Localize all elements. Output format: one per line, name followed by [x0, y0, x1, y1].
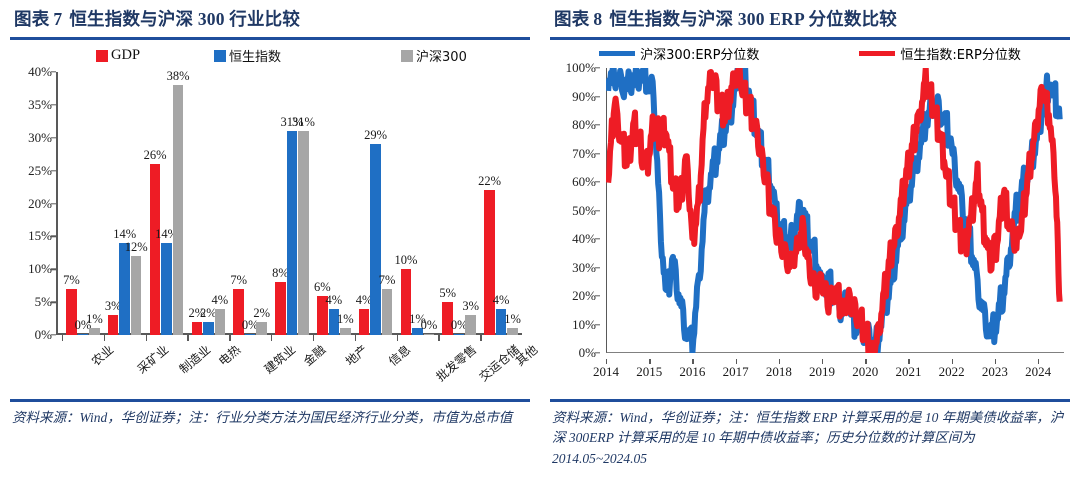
bar-group: 6%4%1% — [313, 72, 355, 335]
figure-8-number: 8 — [589, 9, 609, 29]
line-y-tick: 20% — [572, 288, 596, 304]
line-y-tick: 30% — [572, 260, 596, 276]
figure-7-footnote: 资料来源：Wind，华创证券；注：行业分类方法为国民经济行业分类，市值为总市值 — [10, 408, 530, 429]
bar-group: 8%31%31% — [271, 72, 313, 335]
figure-8-footnote-rule — [550, 399, 1070, 402]
figure-7-title-text: 恒生指数与沪深 300 行业比较 — [69, 9, 300, 29]
bar-y-tick: 30% — [28, 130, 52, 146]
bar-恒生指数: 0% — [454, 334, 465, 335]
bar-GDP: 8% — [275, 282, 286, 335]
figure-7-title: 图表7恒生指数与沪深 300 行业比较 — [10, 0, 530, 36]
bar-group: 2%2%4% — [187, 72, 229, 335]
line-x-label: 2022 — [939, 364, 965, 380]
bar-沪深300: 4% — [215, 309, 226, 335]
bar-value-label: 12% — [125, 240, 148, 255]
line-y-tick: 70% — [572, 146, 596, 162]
legend-item-gdp: GDP — [96, 47, 140, 64]
bar-y-tickmark — [51, 269, 56, 270]
line-x-tickmark — [822, 359, 823, 364]
bar-y-axis — [56, 72, 58, 335]
legend-swatch-gdp — [96, 50, 108, 62]
bar-value-label: 5% — [439, 286, 456, 301]
bar-x-label: 采矿业 — [133, 341, 172, 377]
line-y-tickmark — [595, 96, 600, 97]
bar-GDP: 26% — [150, 164, 161, 335]
line-x-tickmark — [606, 359, 607, 364]
legend-item-csi300-erp: 沪深300:ERP分位数 — [599, 44, 759, 63]
bar-y-tickmark — [51, 203, 56, 204]
line-y-tickmark — [595, 67, 600, 68]
bar-恒生指数: 31% — [287, 131, 298, 335]
figure-8-title-text: 恒生指数与沪深 300 ERP 分位数比较 — [609, 9, 897, 29]
bar-沪深300: 1% — [340, 328, 351, 335]
bar-y-tick: 20% — [28, 196, 52, 212]
legend-item-hsi-erp: 恒生指数:ERP分位数 — [859, 44, 1020, 63]
line-y-tickmark — [595, 238, 600, 239]
bar-value-label: 7% — [379, 273, 396, 288]
bar-chart-legend: GDP 恒生指数 沪深300 — [10, 46, 530, 65]
bar-y-tick: 5% — [35, 294, 52, 310]
line-x-label: 2016 — [679, 364, 705, 380]
bar-y-tickmark — [51, 137, 56, 138]
figure-8-footnote: 资料来源：Wind，华创证券；注：恒生指数 ERP 计算采用的是 10 年期美债… — [550, 408, 1070, 471]
line-x-label: 2017 — [723, 364, 749, 380]
line-y-tick: 100% — [566, 60, 596, 76]
line-x-label: 2018 — [766, 364, 792, 380]
bar-value-label: 1% — [86, 312, 103, 327]
bar-沪深300: 3% — [465, 315, 476, 335]
legend-item-hsi: 恒生指数 — [214, 46, 281, 65]
line-plot-area: 0%10%20%30%40%50%60%70%80%90%100% — [606, 68, 1064, 353]
legend-swatch-csi300 — [401, 50, 413, 62]
line-x-year-labels: 2014201520162017201820192020202120222023… — [606, 359, 1064, 381]
line-y-tick: 90% — [572, 89, 596, 105]
bar-沪深300: 0% — [424, 334, 435, 335]
line-x-label: 2023 — [982, 364, 1008, 380]
bar-value-label: 3% — [462, 299, 479, 314]
bar-GDP: 4% — [359, 309, 370, 335]
bar-沪深300: 31% — [298, 131, 309, 335]
figure-8-panel: 图表8恒生指数与沪深 300 ERP 分位数比较 沪深300:ERP分位数 恒生… — [540, 0, 1080, 488]
bar-y-tick: 40% — [28, 64, 52, 80]
line-y-tick: 40% — [572, 231, 596, 247]
line-x-tickmark — [692, 359, 693, 364]
line-x-tickmark — [995, 359, 996, 364]
bar-沪深300: 1% — [507, 328, 518, 335]
bar-沪深300: 12% — [131, 256, 142, 335]
bar-value-label: 7% — [230, 273, 247, 288]
line-y-tick: 60% — [572, 174, 596, 190]
bar-value-label: 7% — [63, 273, 80, 288]
bar-value-label: 2% — [253, 306, 270, 321]
bar-x-label: 建筑业 — [260, 341, 299, 377]
bar-y-tickmark — [51, 170, 56, 171]
bar-value-label: 29% — [364, 128, 387, 143]
line-series-svg — [606, 68, 1064, 353]
line-y-tickmark — [595, 352, 600, 353]
bar-y-tick: 35% — [28, 97, 52, 113]
line-x-label: 2015 — [636, 364, 662, 380]
line-y-tickmark — [595, 124, 600, 125]
bar-value-label: 31% — [292, 115, 315, 130]
bar-y-tickmark — [51, 104, 56, 105]
bar-y-tickmark — [51, 301, 56, 302]
line-x-tickmark — [908, 359, 909, 364]
line-x-tickmark — [736, 359, 737, 364]
legend-label-gdp: GDP — [111, 47, 140, 64]
line-x-label: 2024 — [1025, 364, 1051, 380]
bar-恒生指数: 14% — [119, 243, 130, 335]
bar-group: 5%0%3% — [438, 72, 480, 335]
bar-x-label: 交运仓储 — [475, 341, 523, 385]
line-y-tickmark — [595, 324, 600, 325]
figure-7-number: 7 — [49, 9, 69, 29]
bar-沪深300: 7% — [382, 289, 393, 335]
bar-group: 7%0%2% — [229, 72, 271, 335]
legend-label-hsi: 恒生指数 — [229, 46, 281, 65]
bar-value-label: 4% — [493, 293, 510, 308]
bar-x-label: 地产 — [342, 341, 371, 369]
bar-value-label: 4% — [325, 293, 342, 308]
bar-GDP: 22% — [484, 190, 495, 335]
legend-label-csi300: 沪深300 — [416, 46, 467, 65]
legend-label-hsi-erp: 恒生指数:ERP分位数 — [900, 44, 1020, 63]
legend-label-csi300-erp: 沪深300:ERP分位数 — [640, 44, 759, 63]
bar-GDP: 3% — [108, 315, 119, 335]
bar-恒生指数: 29% — [370, 144, 381, 335]
bar-value-label: 1% — [337, 312, 354, 327]
line-x-tickmark — [865, 359, 866, 364]
bar-沪深300: 2% — [256, 322, 267, 335]
line-y-tickmark — [595, 153, 600, 154]
bar-GDP: 2% — [192, 322, 203, 335]
figure-page: 图表7恒生指数与沪深 300 行业比较 GDP 恒生指数 沪深300 — [0, 0, 1080, 488]
line-x-label: 2020 — [852, 364, 878, 380]
legend-item-csi300: 沪深300 — [401, 46, 467, 65]
line-x-tickmark — [952, 359, 953, 364]
bar-沪深300: 38% — [173, 85, 184, 335]
figure-7-panel: 图表7恒生指数与沪深 300 行业比较 GDP 恒生指数 沪深300 — [0, 0, 540, 488]
line-y-tick: 0% — [579, 345, 596, 361]
line-x-label: 2021 — [895, 364, 921, 380]
bar-y-tickmark — [51, 71, 56, 72]
line-x-tickmark — [649, 359, 650, 364]
bar-value-label: 10% — [394, 253, 417, 268]
line-chart-legend: 沪深300:ERP分位数 恒生指数:ERP分位数 — [550, 44, 1070, 63]
bar-恒生指数: 2% — [203, 322, 214, 335]
bar-groups: 7%0%1%3%14%12%26%14%38%2%2%4%7%0%2%8%31%… — [62, 72, 522, 335]
bar-y-tick: 0% — [35, 327, 52, 343]
line-x-tickmark — [779, 359, 780, 364]
bar-plot-area: 0%5%10%15%20%25%30%35%40% 7%0%1%3%14%12%… — [62, 72, 522, 335]
line-y-tick: 10% — [572, 317, 596, 333]
bar-group: 26%14%38% — [146, 72, 188, 335]
bar-group: 22%4%1% — [480, 72, 522, 335]
bar-y-tick: 15% — [28, 228, 52, 244]
bar-group: 7%0%1% — [62, 72, 104, 335]
figure-8-title-prefix: 图表 — [554, 9, 589, 29]
bar-x-label: 信息 — [384, 341, 413, 369]
bar-group: 4%29%7% — [355, 72, 397, 335]
line-x-label: 2019 — [809, 364, 835, 380]
line-y-tickmark — [595, 295, 600, 296]
bar-恒生指数: 14% — [161, 243, 172, 335]
bar-value-label: 1% — [504, 312, 521, 327]
bar-value-label: 26% — [144, 148, 167, 163]
bar-y-tick: 25% — [28, 163, 52, 179]
bar-恒生指数: 0% — [245, 334, 256, 335]
figure-7-chart: GDP 恒生指数 沪深300 0%5%10%15%20%25%30%35%40%… — [10, 40, 530, 395]
line-x-tickmark — [1038, 359, 1039, 364]
bar-y-tickmark — [51, 334, 56, 335]
line-y-tick: 50% — [572, 203, 596, 219]
bar-value-label: 38% — [167, 69, 190, 84]
bar-x-label: 电热 — [215, 341, 244, 369]
line-y-tickmark — [595, 181, 600, 182]
figure-7-footnote-rule — [10, 399, 530, 402]
bar-value-label: 4% — [212, 293, 229, 308]
bar-x-label: 批发零售 — [432, 341, 480, 385]
bar-value-label: 0% — [421, 318, 438, 333]
bar-沪深300: 1% — [89, 328, 100, 335]
line-y-tickmark — [595, 267, 600, 268]
legend-line-csi300-erp — [599, 51, 635, 56]
bar-value-label: 22% — [478, 174, 501, 189]
bar-group: 3%14%12% — [104, 72, 146, 335]
legend-line-hsi-erp — [859, 51, 895, 56]
bar-x-label: 制造业 — [175, 341, 214, 377]
bar-x-label: 金融 — [300, 341, 329, 369]
line-y-tickmark — [595, 210, 600, 211]
bar-x-category-labels: 农业采矿业制造业电热建筑业金融地产信息批发零售交运仓储其他 — [56, 337, 522, 395]
line-series-恒生指数:ERP分位数 — [608, 68, 1060, 352]
legend-swatch-hsi — [214, 50, 226, 62]
bar-x-label: 农业 — [88, 341, 117, 369]
line-x-label: 2014 — [593, 364, 619, 380]
figure-8-chart: 沪深300:ERP分位数 恒生指数:ERP分位数 0%10%20%30%40%5… — [550, 40, 1070, 395]
line-y-tick: 80% — [572, 117, 596, 133]
bar-y-tickmark — [51, 236, 56, 237]
figure-7-title-prefix: 图表 — [14, 9, 49, 29]
bar-恒生指数: 0% — [78, 334, 89, 335]
bar-y-tick: 10% — [28, 261, 52, 277]
bar-group: 10%1%0% — [397, 72, 439, 335]
figure-8-title: 图表8恒生指数与沪深 300 ERP 分位数比较 — [550, 0, 1070, 36]
